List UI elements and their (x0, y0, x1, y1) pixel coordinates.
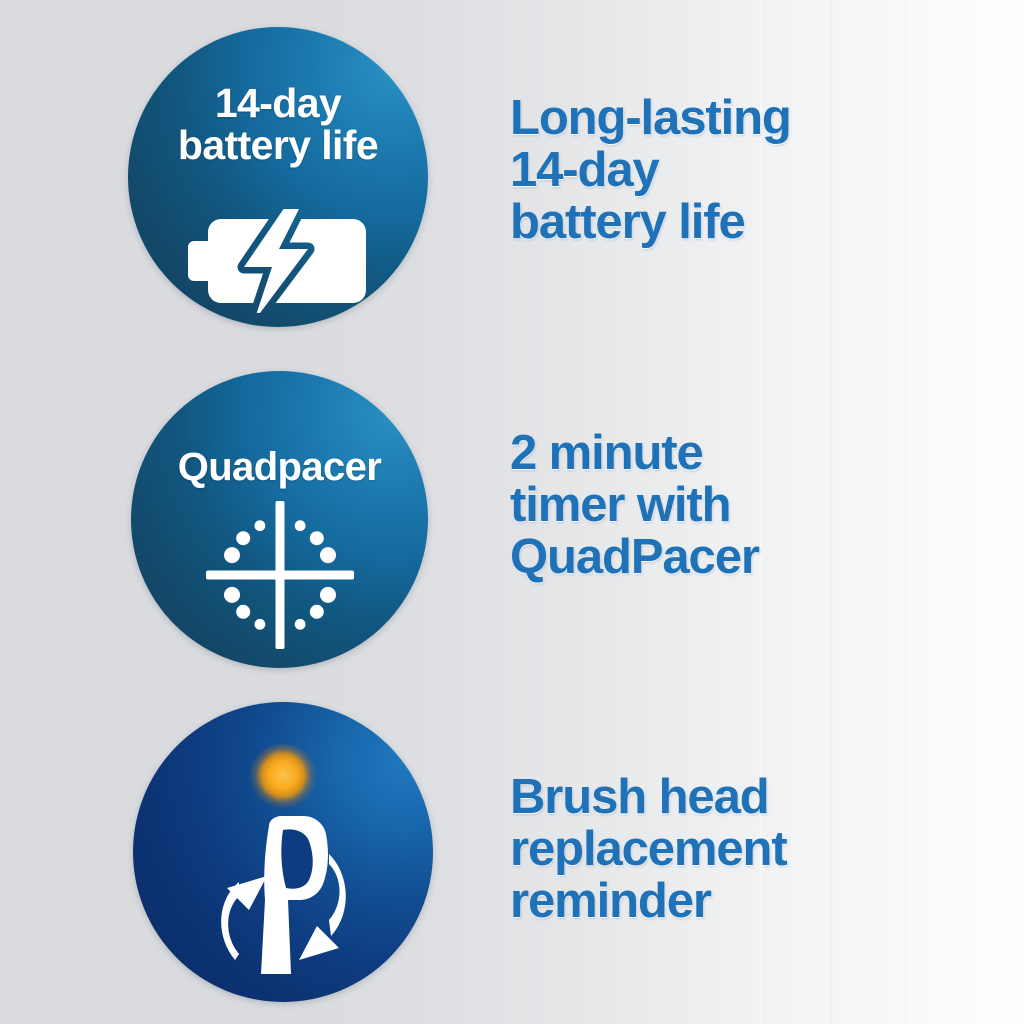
battery-charging-icon (128, 209, 428, 313)
background-band (830, 0, 833, 1024)
headline-battery: Long-lasting 14-day battery life (510, 93, 791, 249)
badge-label-battery: 14-day battery life (128, 83, 428, 167)
background-band (905, 0, 907, 1024)
feature-badge-quadpacer: Quadpacer (131, 371, 428, 668)
quadpacer-cross-dots-icon (131, 499, 428, 651)
feature-poster: 14-day battery life (0, 0, 1024, 1024)
feature-badge-battery: 14-day battery life (128, 27, 428, 327)
badge-label-quadpacer: Quadpacer (131, 447, 428, 488)
orange-indicator-light-icon (133, 742, 433, 818)
headline-quadpacer: 2 minute timer with QuadPacer (510, 428, 759, 584)
brush-head-replacement-icon (133, 814, 433, 982)
background-band (985, 0, 987, 1024)
headline-brush-head: Brush head replacement reminder (510, 772, 787, 928)
feature-badge-brush-head (133, 702, 433, 1002)
